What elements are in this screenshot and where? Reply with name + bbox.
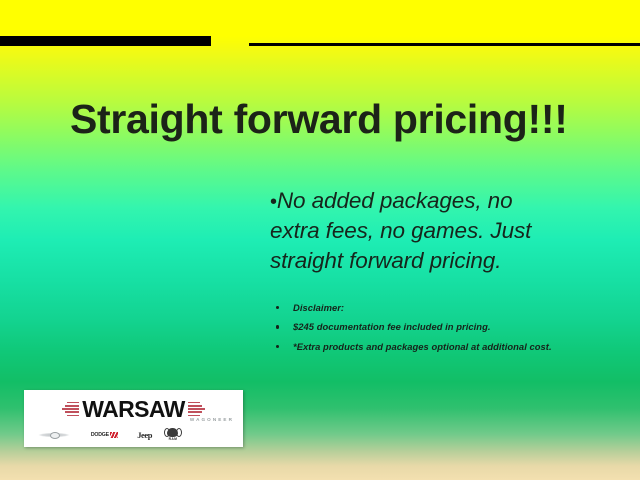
ram-logo-icon: RAM (165, 427, 181, 443)
speed-lines-right-icon (188, 402, 205, 417)
disclaimer-text: *Extra products and packages optional at… (293, 341, 552, 352)
dealer-logo-card: WARSAW WAGONEER DODGE Jeep RAM (24, 390, 243, 447)
ram-head-icon (167, 428, 178, 437)
disclaimer-text: Disclaimer: (293, 302, 344, 313)
disclaimer-text: $245 documentation fee included in prici… (293, 321, 491, 332)
bullet-icon (276, 306, 279, 309)
jeep-label: Jeep (137, 430, 152, 440)
body-bullet-glyph: • (270, 191, 277, 213)
dodge-logo-icon: DODGE (84, 427, 124, 443)
bullet-icon (276, 345, 279, 348)
brand-logo-row: DODGE Jeep RAM (31, 426, 181, 443)
list-item: *Extra products and packages optional at… (272, 342, 582, 351)
bullet-icon (276, 325, 279, 328)
body-paragraph: •No added packages, no extra fees, no ga… (270, 186, 550, 276)
dealer-name: WARSAW (79, 398, 187, 421)
dodge-stripes-icon (110, 432, 118, 438)
wagoneer-wordmark: WAGONEER (190, 417, 234, 422)
ram-label: RAM (169, 437, 178, 441)
list-item: $245 documentation fee included in prici… (272, 322, 582, 331)
disclaimer-list: Disclaimer: $245 documentation fee inclu… (272, 303, 582, 361)
chrysler-wing-icon (32, 432, 76, 438)
dodge-label: DODGE (91, 432, 109, 438)
chrysler-logo-icon (31, 427, 77, 443)
slide-body: •No added packages, no extra fees, no ga… (270, 186, 550, 276)
slide-title: Straight forward pricing!!! (70, 98, 610, 141)
presentation-slide: Straight forward pricing!!! •No added pa… (0, 0, 640, 480)
list-item: Disclaimer: (272, 303, 582, 312)
speed-lines-left-icon (62, 402, 79, 417)
body-paragraph-text: No added packages, no extra fees, no gam… (270, 188, 531, 273)
header-rule-thin (249, 43, 640, 46)
jeep-logo-icon: Jeep (132, 427, 158, 443)
header-rule-thick (0, 36, 211, 46)
